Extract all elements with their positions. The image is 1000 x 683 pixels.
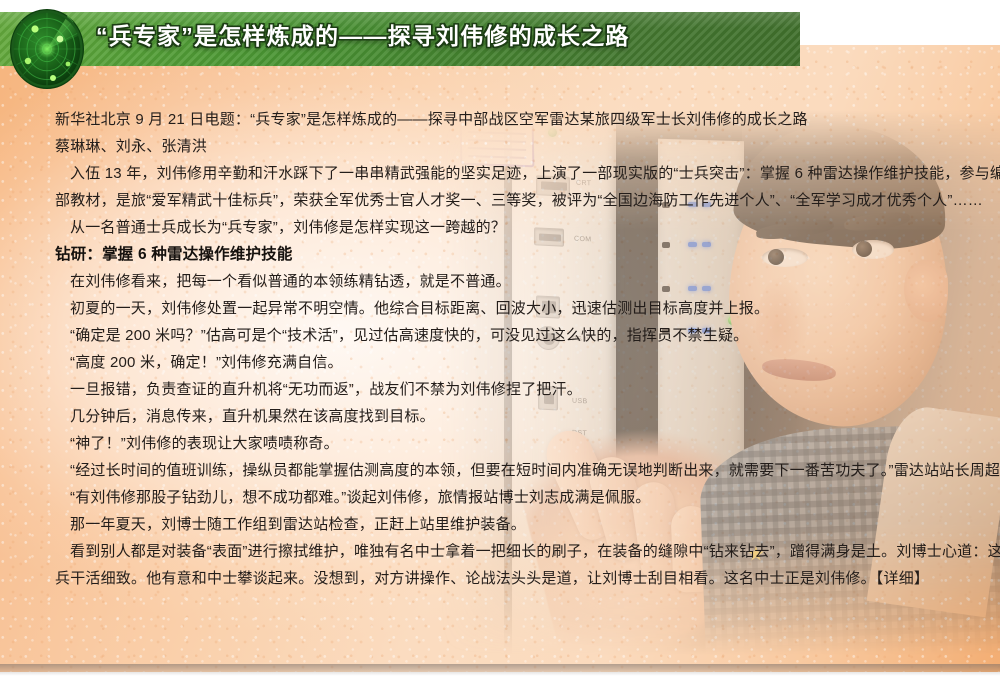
article-line: 几分钟后，消息传来，直升机果然在该高度找到目标。 xyxy=(55,403,950,430)
article-line: “高度 200 米，确定！”刘伟修充满自信。 xyxy=(55,349,950,376)
article-line: 从一名普通士兵成长为“兵专家”，刘伟修是怎样实现这一跨越的？ xyxy=(55,214,950,241)
article-line: “确定是 200 米吗？”估高可是个“技术活”，见过估高速度快的，可没见过这么快… xyxy=(55,322,950,349)
article-body: 新华社北京 9 月 21 日电题：“兵专家”是怎样炼成的——探寻中部战区空军雷达… xyxy=(55,106,950,592)
article-dateline: 新华社北京 9 月 21 日电题：“兵专家”是怎样炼成的——探寻中部战区空军雷达… xyxy=(55,106,950,133)
article-line: “有刘伟修那股子钻劲儿，想不成功都难。”谈起刘伟修，旅情报站博士刘志成满是佩服。 xyxy=(55,484,950,511)
article-line: 那一年夏天，刘博士随工作组到雷达站检查，正赶上站里维护装备。 xyxy=(55,511,950,538)
article-line: “神了！”刘伟修的表现让大家啧啧称奇。 xyxy=(55,430,950,457)
article-byline: 蔡琳琳、刘永、张清洪 xyxy=(55,133,950,160)
article-subheading: 钻研：掌握 6 种雷达操作维护技能 xyxy=(55,241,950,268)
radar-icon xyxy=(8,6,86,90)
article-line: 一旦报错，负责查证的直升机将“无功而返”，战友们不禁为刘伟修捏了把汗。 xyxy=(55,376,950,403)
page-title: “兵专家”是怎样炼成的——探寻刘伟修的成长之路 xyxy=(96,14,630,54)
page-root: CRT COM LAN PS II USB RST xyxy=(0,0,1000,683)
article-line-detail-link[interactable]: 兵干活细致。他有意和中士攀谈起来。没想到，对方讲操作、论战法头头是道，让刘博士刮… xyxy=(55,565,950,592)
article-line: 入伍 13 年，刘伟修用辛勤和汗水踩下了一串串精武强能的坚实足迹，上演了一部现实… xyxy=(55,160,950,187)
article-line: 在刘伟修看来，把每一个看似普通的本领练精钻透，就是不普通。 xyxy=(55,268,950,295)
page-bottom-shadow xyxy=(0,664,1000,683)
article-line: 部教材，是旅“爱军精武十佳标兵”，荣获全军优秀士官人才奖一、三等奖，被评为“全国… xyxy=(55,187,950,214)
article-line: 看到别人都是对装备“表面”进行擦拭维护，唯独有名中士拿着一把细长的刷子，在装备的… xyxy=(55,538,950,565)
article-line: “经过长时间的值班训练，操纵员都能掌握估测高度的本领，但要在短时间内准确无误地判… xyxy=(55,457,950,484)
article-line: 初夏的一天，刘伟修处置一起异常不明空情。他综合目标距离、回波大小，迅速估测出目标… xyxy=(55,295,950,322)
